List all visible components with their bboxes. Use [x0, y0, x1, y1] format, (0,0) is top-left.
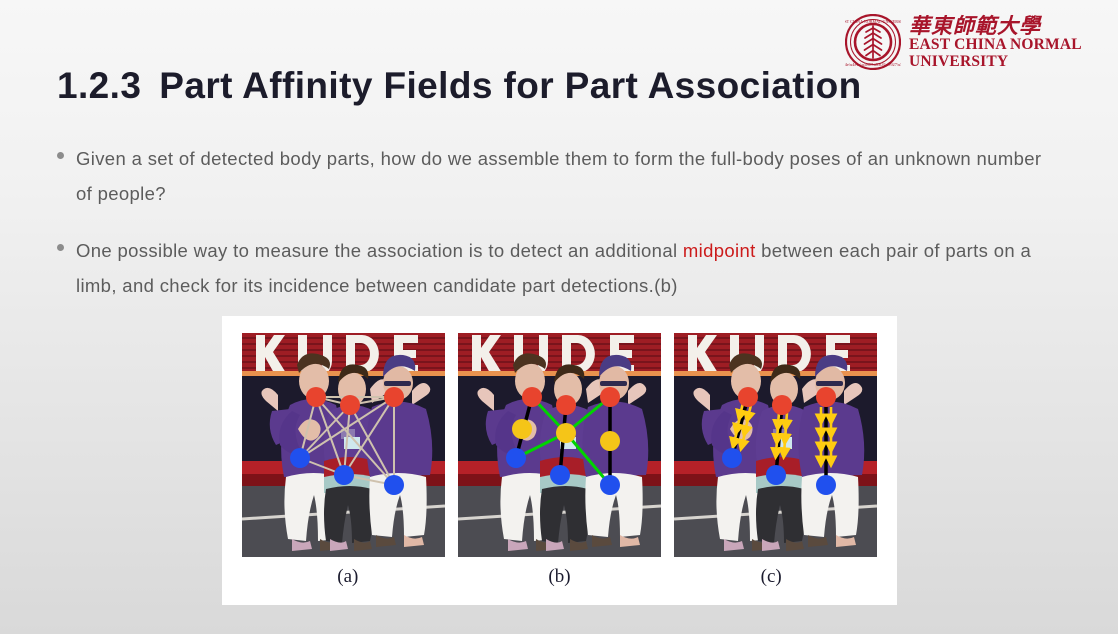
- figure-caption-c: (c): [665, 566, 877, 588]
- bullet-list: Given a set of detected body parts, how …: [57, 141, 1062, 325]
- figure-captions: (a) (b) (c): [242, 566, 877, 588]
- bullet-text: Given a set of detected body parts, how …: [76, 141, 1062, 211]
- logo-english-line2: UNIVERSITY: [909, 54, 1082, 71]
- figure-container: (a) (b) (c): [222, 316, 897, 605]
- slide-title-text: Part Affinity Fields for Part Associatio…: [159, 65, 861, 106]
- university-seal-icon: EAST CHINA NORMAL UNIVERSITY \u534e\u4e1…: [845, 14, 901, 70]
- bullet-segment: Given a set of detected body parts, how …: [76, 148, 1041, 204]
- bullet-item: One possible way to measure the associat…: [57, 233, 1062, 303]
- bullet-marker-icon: [57, 244, 64, 251]
- figure-caption-a: (a): [242, 566, 454, 588]
- figure-caption-b: (b): [454, 566, 666, 588]
- figure-panel-b: [458, 333, 661, 557]
- university-logo: EAST CHINA NORMAL UNIVERSITY \u534e\u4e1…: [845, 14, 1090, 76]
- figure-panels: [242, 333, 877, 557]
- bullet-item: Given a set of detected body parts, how …: [57, 141, 1062, 211]
- figure-panel-c: [674, 333, 877, 557]
- bullet-segment: One possible way to measure the associat…: [76, 240, 683, 261]
- bullet-marker-icon: [57, 152, 64, 159]
- slide-title-number: 1.2.3: [57, 65, 141, 106]
- svg-text:EAST CHINA NORMAL UNIVERSITY: EAST CHINA NORMAL UNIVERSITY: [845, 19, 901, 24]
- logo-english-line1: EAST CHINA NORMAL: [909, 37, 1082, 54]
- bullet-text: One possible way to measure the associat…: [76, 233, 1062, 303]
- slide-title: 1.2.3Part Affinity Fields for Part Assoc…: [57, 65, 862, 107]
- logo-chinese-name: 華東師範大學: [909, 15, 1082, 37]
- figure-panel-a: [242, 333, 445, 557]
- highlight-midpoint: midpoint: [683, 240, 756, 261]
